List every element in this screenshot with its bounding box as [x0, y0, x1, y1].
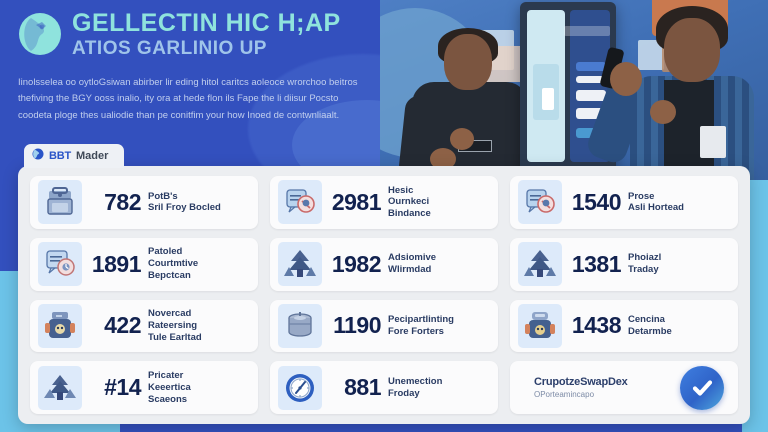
machine-icon [38, 180, 82, 224]
stat-label: Patoled Courtmtive Bepctcan [148, 246, 250, 282]
globe-icon [18, 12, 62, 61]
stat-label: Cencina Detarmbe [628, 314, 730, 338]
document-alert-icon [278, 180, 322, 224]
stat-value: 2981 [329, 189, 381, 216]
check-badge-icon [680, 366, 724, 410]
page-subtitle: ATIOS GARLINIO UP [72, 38, 341, 61]
stat-value: 1438 [569, 312, 621, 339]
stat-label: Hesic Ournkeci Bindance [388, 185, 490, 221]
header: GELLECTIN HIC H;AP ATIOS GARLINIO UP Iin… [18, 10, 378, 124]
stat-label: Prose Asli Hortead [628, 191, 730, 215]
stat-card[interactable]: 782 PotB's Sril Froy Bocled [30, 176, 258, 229]
infographic-root: GELLECTIN HIC H;AP ATIOS GARLINIO UP Iin… [0, 0, 768, 432]
brand-subtitle: OPorteamincapo [534, 390, 628, 399]
stat-card[interactable]: 1190 Pecipartlinting Fore Forters [270, 300, 498, 353]
robot-icon [38, 304, 82, 348]
document-clock-icon [38, 242, 82, 286]
tree-icon [518, 242, 562, 286]
globe-icon [32, 147, 44, 165]
stat-value: 422 [89, 312, 141, 339]
stat-label: Unemection Froday [388, 376, 490, 400]
tree-icon [38, 366, 82, 410]
brand-name: CrupotzeSwapDex [534, 376, 628, 388]
stat-label: Pricater Keeertica Scaeons [148, 370, 250, 406]
stat-card[interactable]: 2981 Hesic Ournkeci Bindance [270, 176, 498, 229]
stat-card[interactable]: 1438 Cencina Detarmbe [510, 300, 738, 353]
tree-icon [278, 242, 322, 286]
stat-card[interactable]: 881 Unemection Froday [270, 361, 498, 414]
barrel-icon [278, 304, 322, 348]
stat-value: 782 [89, 189, 141, 216]
stat-value: 1381 [569, 251, 621, 278]
brand-logo-card[interactable]: CrupotzeSwapDex OPorteamincapo [510, 361, 738, 414]
tab-label: Mader [76, 150, 108, 162]
stat-card[interactable]: 1891 Patoled Courtmtive Bepctcan [30, 238, 258, 291]
stat-value: 1982 [329, 251, 381, 278]
compass-icon [278, 366, 322, 410]
person-right [604, 0, 764, 180]
stat-value: 1891 [89, 251, 141, 278]
tab-bbt-mader[interactable]: BBT Mader [24, 144, 124, 168]
stats-grid: 782 PotB's Sril Froy Bocled [30, 176, 738, 414]
stats-panel: 782 PotB's Sril Froy Bocled [18, 166, 750, 424]
document-alert-icon [518, 180, 562, 224]
brand-text: CrupotzeSwapDex OPorteamincapo [518, 376, 628, 399]
stat-label: Novercad Rateersing Tule Earltad [148, 308, 250, 344]
robot-icon [518, 304, 562, 348]
hero-photo [380, 0, 768, 180]
stat-label: PotB's Sril Froy Bocled [148, 191, 250, 215]
stat-card[interactable]: 1381 Phoiazl Traday [510, 238, 738, 291]
stat-card[interactable]: #14 Pricater Keeertica Scaeons [30, 361, 258, 414]
stat-label: Phoiazl Traday [628, 252, 730, 276]
stat-card[interactable]: 422 Novercad Rateersing Tule Earltad [30, 300, 258, 353]
stat-value: #14 [89, 374, 141, 401]
page-title: GELLECTIN HIC H;AP [72, 10, 341, 36]
stat-card[interactable]: 1982 Adsiomive Wlirmdad [270, 238, 498, 291]
stat-value: 1540 [569, 189, 621, 216]
stat-value: 1190 [329, 312, 381, 339]
stat-label: Pecipartlinting Fore Forters [388, 314, 490, 338]
intro-paragraph: Iinolsselea oo oytloGsiwan abirber lir e… [18, 75, 358, 124]
stat-value: 881 [329, 374, 381, 401]
stat-label: Adsiomive Wlirmdad [388, 252, 490, 276]
stat-card[interactable]: 1540 Prose Asli Hortead [510, 176, 738, 229]
tab-brand-label: BBT [49, 150, 71, 162]
